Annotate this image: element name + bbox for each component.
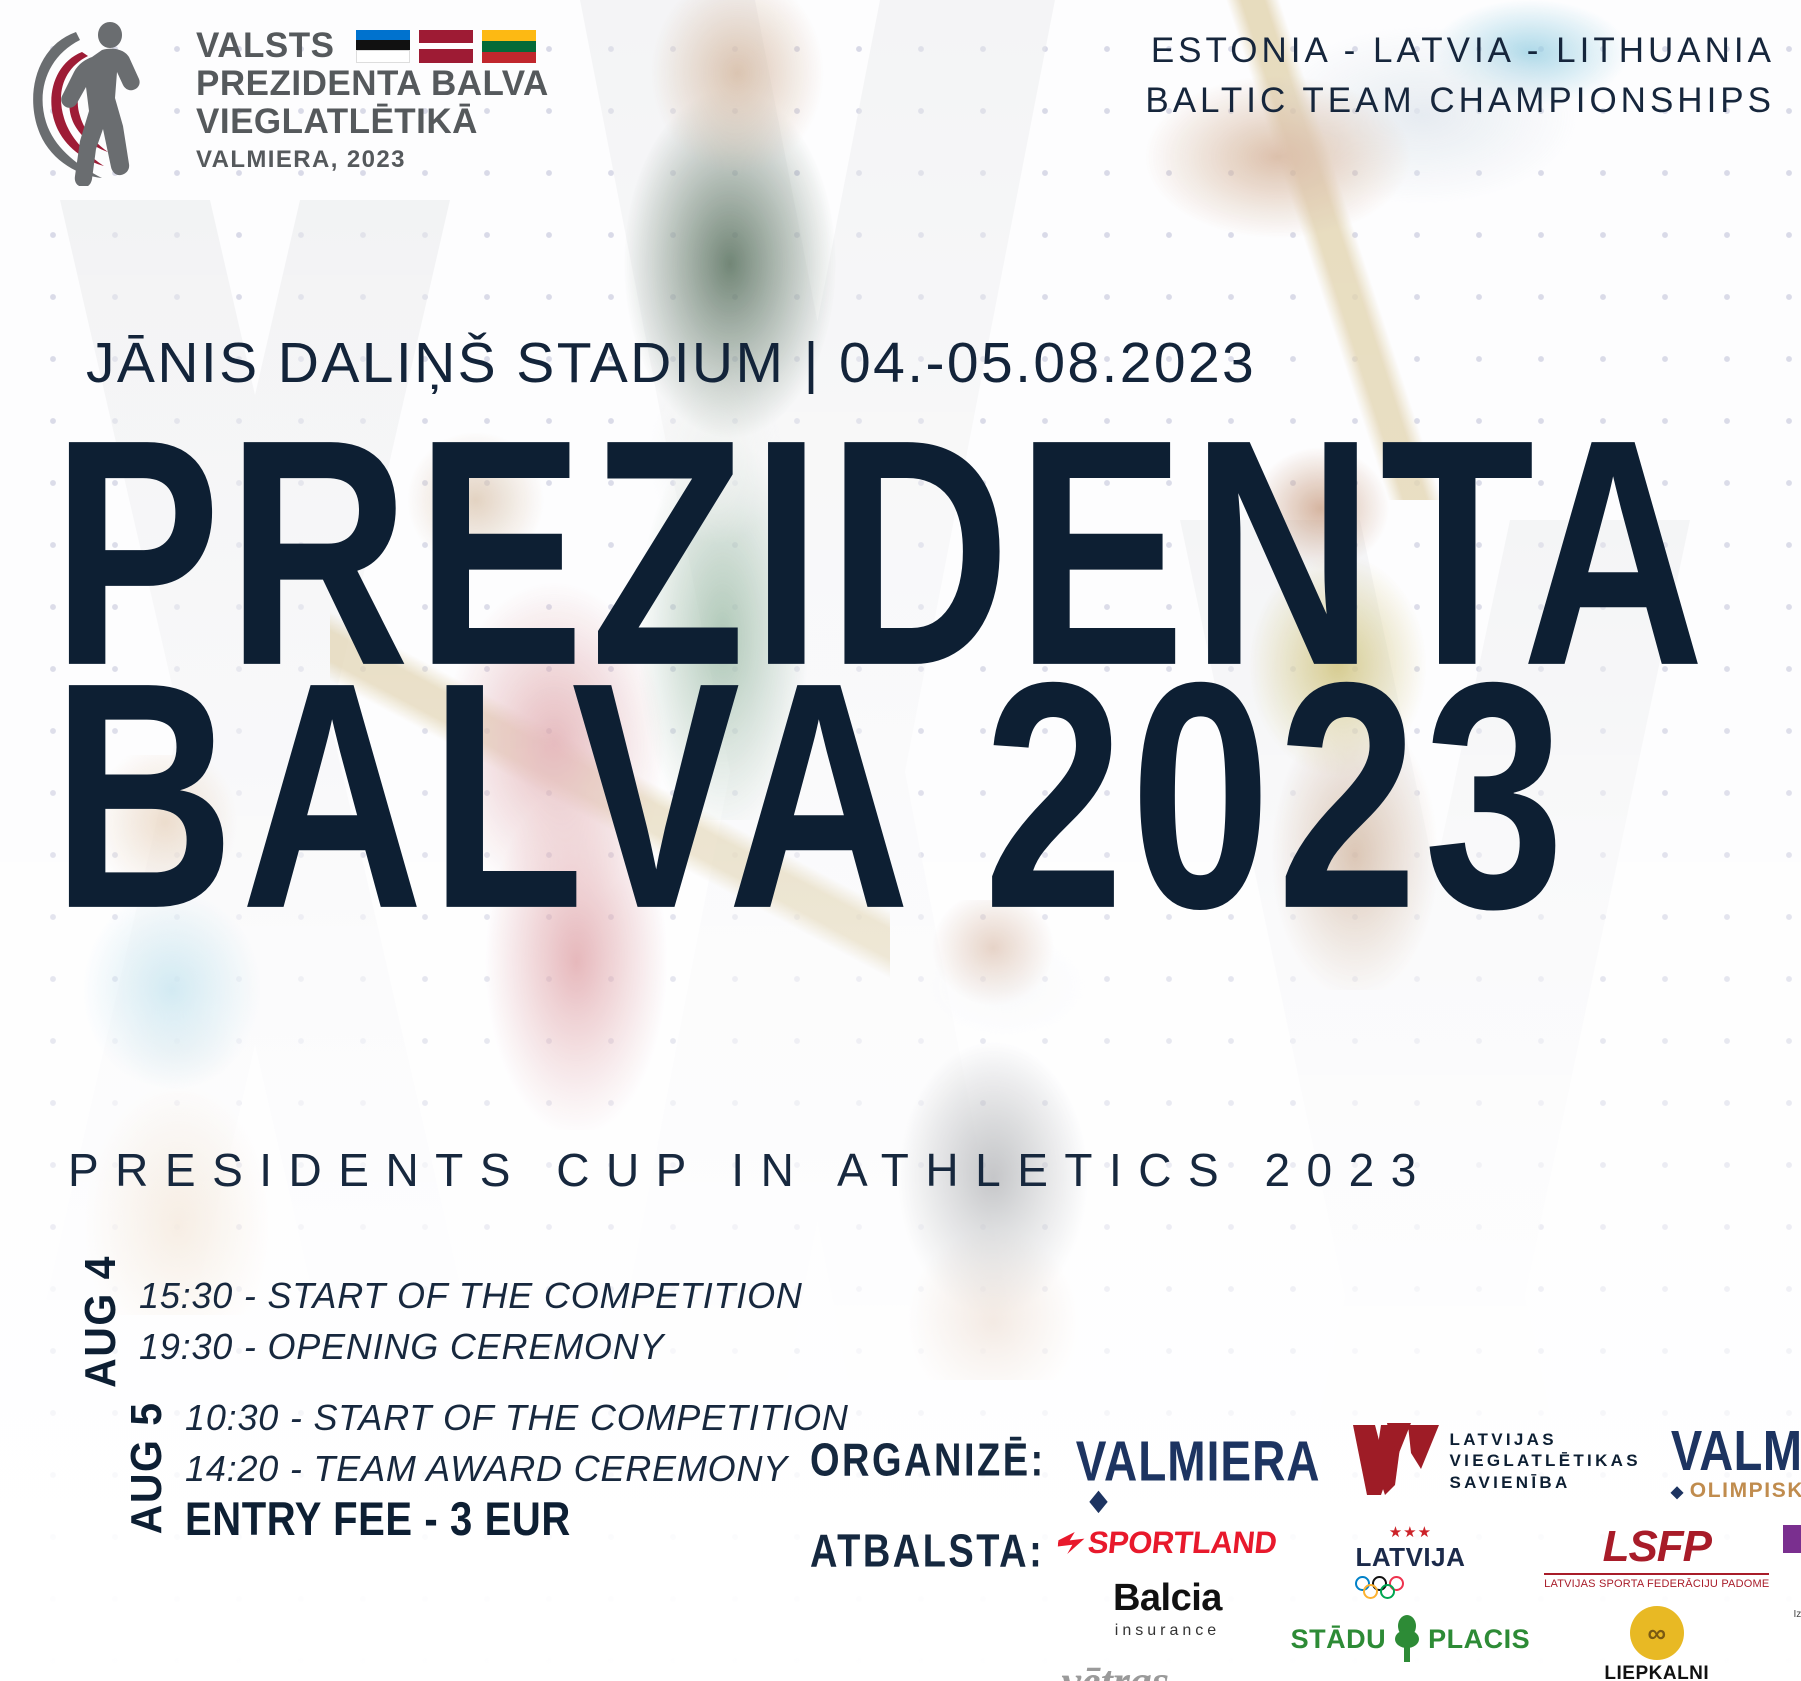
day-2-event-2: 14:20 - TEAM AWARD CEREMONY (185, 1443, 849, 1494)
sponsors-block: ORGANIZĒ: VALMIERA LATVIJAS VIEGLATLĒT (810, 1415, 1785, 1681)
sponsor-logo-lsfp[interactable]: LSFP LATVIJAS SPORTA FEDERĀCIJU PADOME (1544, 1525, 1769, 1590)
supporter-column-4: Izglītības un zinātnes ministrija (1783, 1525, 1801, 1647)
lsfp-mark: LSFP (1544, 1525, 1769, 1569)
title-line-2: BALVA 2023 (52, 643, 1711, 949)
voc-line-2: OLIMPISKAIS CENTRS (1671, 1480, 1801, 1501)
supporter-column-2: ★★★ LATVIJA STĀDU (1291, 1525, 1531, 1664)
estonia-flag-icon (356, 30, 410, 63)
vetras-name: vētras (1062, 1656, 1170, 1681)
lvs-line-3: SAVIENĪBA (1450, 1472, 1641, 1493)
sponsor-logo-stadu-placis[interactable]: STĀDU PLACIS (1291, 1614, 1531, 1664)
schedule-day-2: AUG 5 10:30 - START OF THE COMPETITION 1… (124, 1392, 849, 1543)
entry-fee: ENTRY FEE - 3 EUR (185, 1494, 849, 1547)
sportland-mark-icon (1057, 1532, 1085, 1554)
olympic-rings-icon (1355, 1576, 1465, 1598)
logo-line-3: VIEGLATLĒTIKĀ (196, 103, 549, 141)
championship-header: ESTONIA - LATVIA - LITHUANIA BALTIC TEAM… (1145, 26, 1775, 125)
liepkalni-mark-icon: ∞ (1630, 1606, 1684, 1660)
izm-purple-bar (1783, 1525, 1801, 1553)
sponsor-logo-liepkalni[interactable]: ∞ LIEPKALNI MAIZNĪCA (1604, 1606, 1709, 1681)
stadu-word-2: PLACIS (1428, 1624, 1530, 1655)
organizers-row: ORGANIZĒ: VALMIERA LATVIJAS VIEGLATLĒT (810, 1415, 1785, 1507)
sportland-label: SPORTLAND (1086, 1525, 1278, 1561)
runner-swoosh-logo-icon (18, 16, 178, 186)
supporter-label: ATBALSTA: (810, 1526, 1044, 1578)
day-2-event-1: 10:30 - START OF THE COMPETITION (185, 1392, 849, 1443)
sponsor-logo-valmieras-olympic-centre[interactable]: VALMIERAS OLIMPISKAIS CENTRS (1671, 1422, 1801, 1501)
latvia-flag-icon (419, 30, 473, 63)
lok-label: LATVIJA (1355, 1542, 1465, 1573)
header-line-2: BALTIC TEAM CHAMPIONSHIPS (1145, 76, 1775, 126)
sponsor-logo-izm-ministry[interactable]: Izglītības un zinātnes ministrija (1783, 1525, 1801, 1647)
schedule-block: AUG 4 15:30 - START OF THE COMPETITION 1… (78, 1255, 849, 1543)
baltic-flags (356, 30, 536, 63)
schedule-day-1: AUG 4 15:30 - START OF THE COMPETITION 1… (78, 1255, 849, 1388)
supporter-column-1: SPORTLAND Balcia insurance vētras ziedu … (1058, 1525, 1276, 1681)
logo-line-1: VALSTS (196, 27, 334, 65)
day-1-event-2: 19:30 - OPENING CEREMONY (139, 1321, 803, 1372)
logo-line-2: PREZIDENTA BALVA (196, 65, 549, 103)
sponsor-logo-sportland[interactable]: SPORTLAND (1056, 1525, 1278, 1561)
sponsor-logo-latvian-athletics-union[interactable]: LATVIJAS VIEGLATLĒTIKAS SAVIENĪBA (1351, 1423, 1641, 1499)
latvia-coat-of-arms-icon (1796, 1557, 1801, 1605)
subtitle-english: PRESIDENTS CUP IN ATHLETICS 2023 (68, 1143, 1433, 1197)
lsfp-sub: LATVIJAS SPORTA FEDERĀCIJU PADOME (1544, 1573, 1769, 1590)
lvs-w-mark-icon (1351, 1423, 1443, 1499)
stadu-word-1: STĀDU (1291, 1624, 1387, 1655)
liepkalni-name: LIEPKALNI (1604, 1663, 1709, 1681)
supporters-row: ATBALSTA: SPORTLAND Balcia insurance vēt… (810, 1525, 1785, 1681)
tree-icon (1390, 1614, 1424, 1664)
logo-line-4: VALMIERA, 2023 (196, 144, 549, 175)
sponsor-logo-vetras[interactable]: vētras ziedu salons (1062, 1656, 1274, 1681)
balcia-sub: insurance (1113, 1622, 1222, 1640)
lok-stars-icon: ★★★ (1355, 1525, 1465, 1540)
organizer-label: ORGANIZĒ: (810, 1435, 1046, 1487)
day-2-label: AUG 5 (123, 1392, 171, 1543)
lvs-line-1: LATVIJAS (1450, 1429, 1641, 1450)
day-1-event-1: 15:30 - START OF THE COMPETITION (139, 1270, 803, 1321)
lithuania-flag-icon (482, 30, 536, 63)
sponsor-logo-latvian-olympic-committee[interactable]: ★★★ LATVIJA (1355, 1525, 1465, 1598)
balcia-name: Balcia (1113, 1577, 1222, 1620)
supporter-column-3: LSFP LATVIJAS SPORTA FEDERĀCIJU PADOME ∞… (1544, 1525, 1769, 1681)
day-1-label: AUG 4 (77, 1255, 125, 1388)
event-logo: VALSTS PREZIDENTA BALVA VIEGLA (18, 16, 549, 186)
sponsor-logo-balcia[interactable]: Balcia insurance (1113, 1577, 1222, 1640)
izm-caption: Izglītības un zinātnes ministrija (1783, 1609, 1801, 1647)
sponsor-logo-valmiera[interactable]: VALMIERA (1076, 1428, 1321, 1494)
main-title: PREZIDENTA BALVA 2023 (52, 400, 1678, 878)
poster-canvas: VALSTS PREZIDENTA BALVA VIEGLA (0, 0, 1801, 1681)
header-line-1: ESTONIA - LATVIA - LITHUANIA (1145, 26, 1775, 76)
lvs-line-2: VIEGLATLĒTIKAS (1450, 1450, 1641, 1471)
voc-line-1: VALMIERAS (1671, 1422, 1801, 1478)
